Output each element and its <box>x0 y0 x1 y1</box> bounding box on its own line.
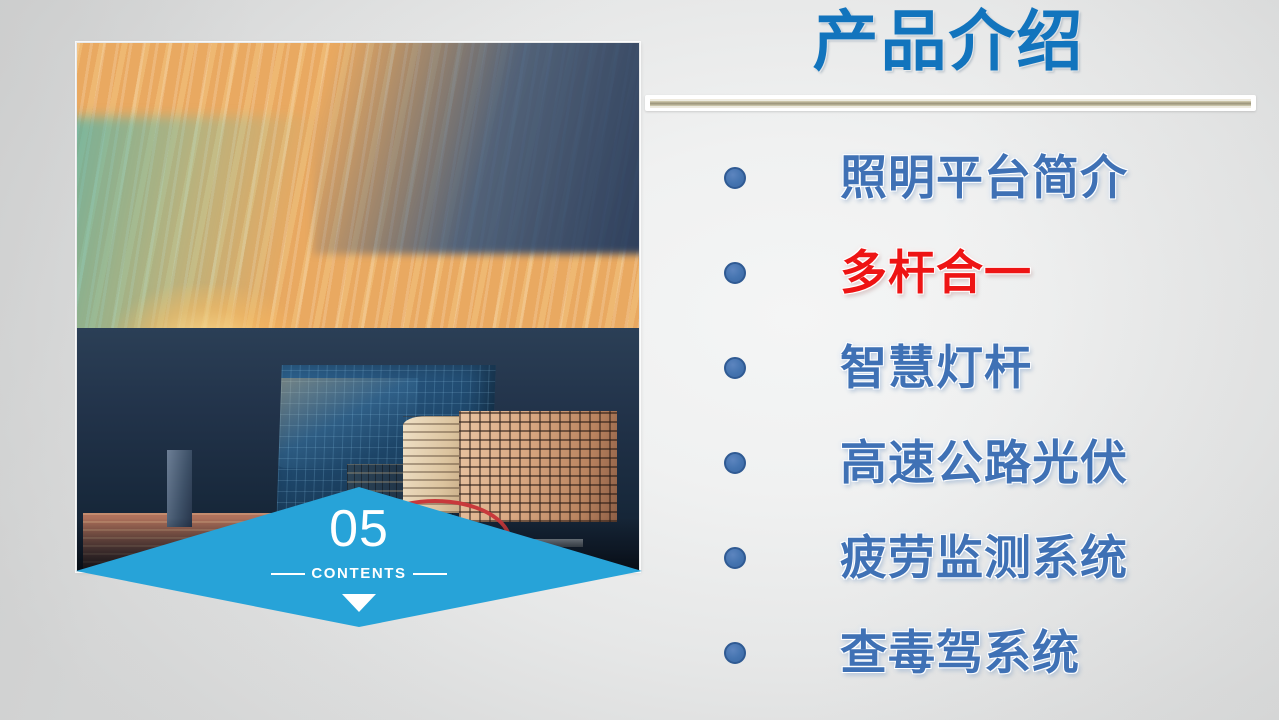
bullet-dot-icon <box>724 262 746 284</box>
list-item[interactable]: 高速公路光伏 <box>640 415 1279 510</box>
bullet-dot-icon <box>724 547 746 569</box>
list-item[interactable]: 疲劳监测系统 <box>640 510 1279 605</box>
contents-label-row: CONTENTS <box>271 565 446 582</box>
contents-label: CONTENTS <box>311 565 406 582</box>
bullet-dot-icon <box>724 167 746 189</box>
list-item-label: 照明平台简介 <box>840 154 1128 201</box>
bullet-dot-icon <box>724 357 746 379</box>
bullet-dot-icon <box>724 642 746 664</box>
list-item[interactable]: 智慧灯杆 <box>640 320 1279 415</box>
list-item[interactable]: 查毒驾系统 <box>640 605 1279 700</box>
list-item-label: 查毒驾系统 <box>840 629 1080 676</box>
rule-left-icon <box>271 573 305 575</box>
list-item-label: 多杆合一 <box>840 249 1032 296</box>
badge-content: 05 CONTENTS <box>76 487 642 627</box>
bullet-list: 照明平台简介 多杆合一 智慧灯杆 高速公路光伏 疲劳监测系统 查毒驾系统 <box>640 130 1279 700</box>
bullet-dot-icon <box>724 452 746 474</box>
section-number: 05 <box>329 503 389 555</box>
list-item[interactable]: 照明平台简介 <box>640 130 1279 225</box>
rule-right-icon <box>413 573 447 575</box>
list-item-label: 高速公路光伏 <box>840 439 1128 486</box>
list-item-label: 疲劳监测系统 <box>840 534 1128 581</box>
presentation-slide: 05 CONTENTS 产品介绍 照明平台简介 多杆合一 <box>0 0 1279 720</box>
list-item[interactable]: 多杆合一 <box>640 225 1279 320</box>
title-divider <box>645 95 1256 111</box>
page-title: 产品介绍 <box>640 4 1257 80</box>
right-panel: 产品介绍 照明平台简介 多杆合一 智慧灯杆 高速公路光伏 <box>640 0 1279 720</box>
divider-bar <box>650 99 1251 108</box>
caret-down-icon <box>342 594 376 612</box>
contents-badge: 05 CONTENTS <box>76 487 642 627</box>
sky-dark-clouds <box>313 43 639 254</box>
list-item-label: 智慧灯杆 <box>840 344 1032 391</box>
